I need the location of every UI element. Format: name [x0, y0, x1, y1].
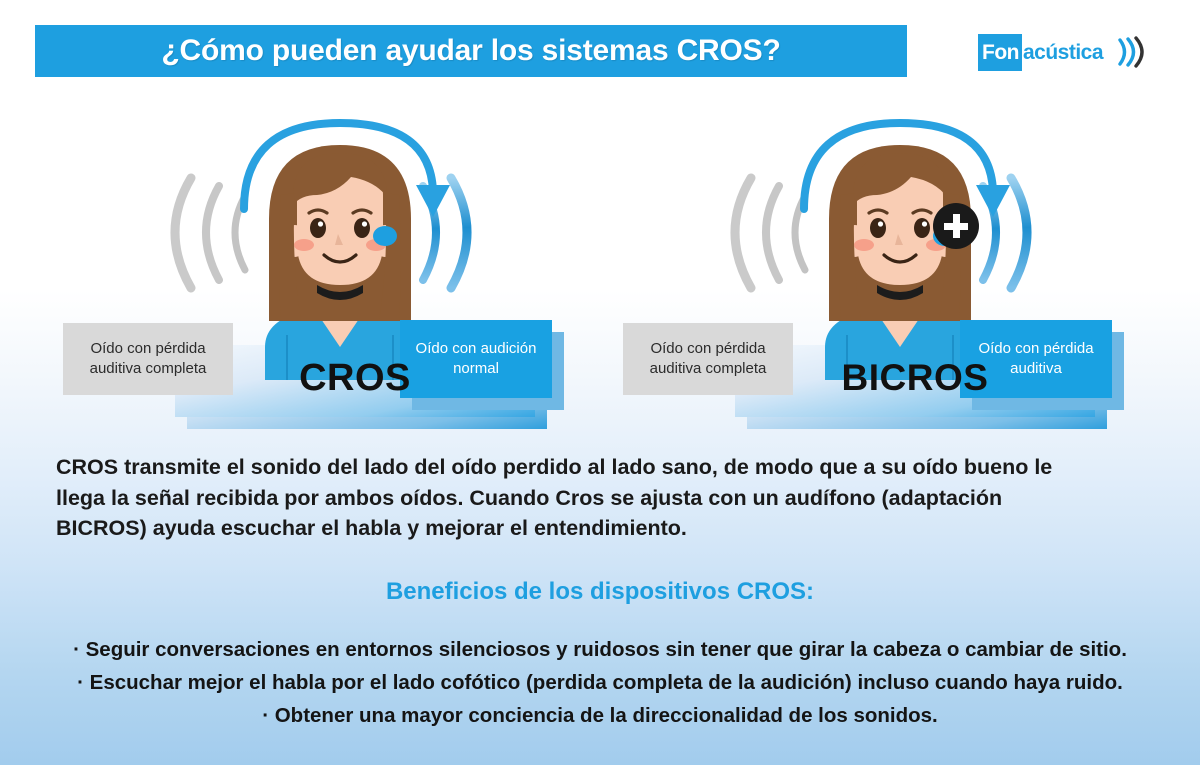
logo-word-text: acústica [1022, 42, 1103, 63]
infographic-page: ¿Cómo pueden ayudar los sistemas CROS? F… [0, 0, 1200, 765]
plus-icon [933, 203, 979, 249]
curved-transfer-arrow-icon [230, 105, 455, 225]
logo-mark-text: Fon [978, 34, 1022, 71]
benefits-list: · Seguir conversaciones en entornos sile… [0, 634, 1200, 732]
page-title: ¿Cómo pueden ayudar los sistemas CROS? [161, 34, 780, 68]
sound-waves-icon [1110, 35, 1144, 69]
curved-transfer-arrow-icon [790, 105, 1015, 225]
list-item: · Obtener una mayor conciencia de la dir… [0, 700, 1200, 733]
brand-logo: Fon acústica [978, 30, 1144, 74]
mode-name-bicros: BICROS [735, 357, 1095, 399]
body-paragraph: CROS transmite el sonido del lado del oí… [56, 452, 1086, 544]
diagram-bicros: Oído con pérdida auditiva completa Oído … [615, 105, 1175, 430]
mode-name-cros: CROS [175, 357, 535, 400]
benefits-heading: Beneficios de los dispositivos CROS: [0, 578, 1200, 606]
diagram-cros: Oído con pérdida auditiva completa Oído … [55, 105, 615, 430]
page-title-bar: ¿Cómo pueden ayudar los sistemas CROS? [35, 25, 907, 77]
list-item: · Seguir conversaciones en entornos sile… [0, 634, 1200, 667]
list-item: · Escuchar mejor el habla por el lado co… [0, 667, 1200, 700]
